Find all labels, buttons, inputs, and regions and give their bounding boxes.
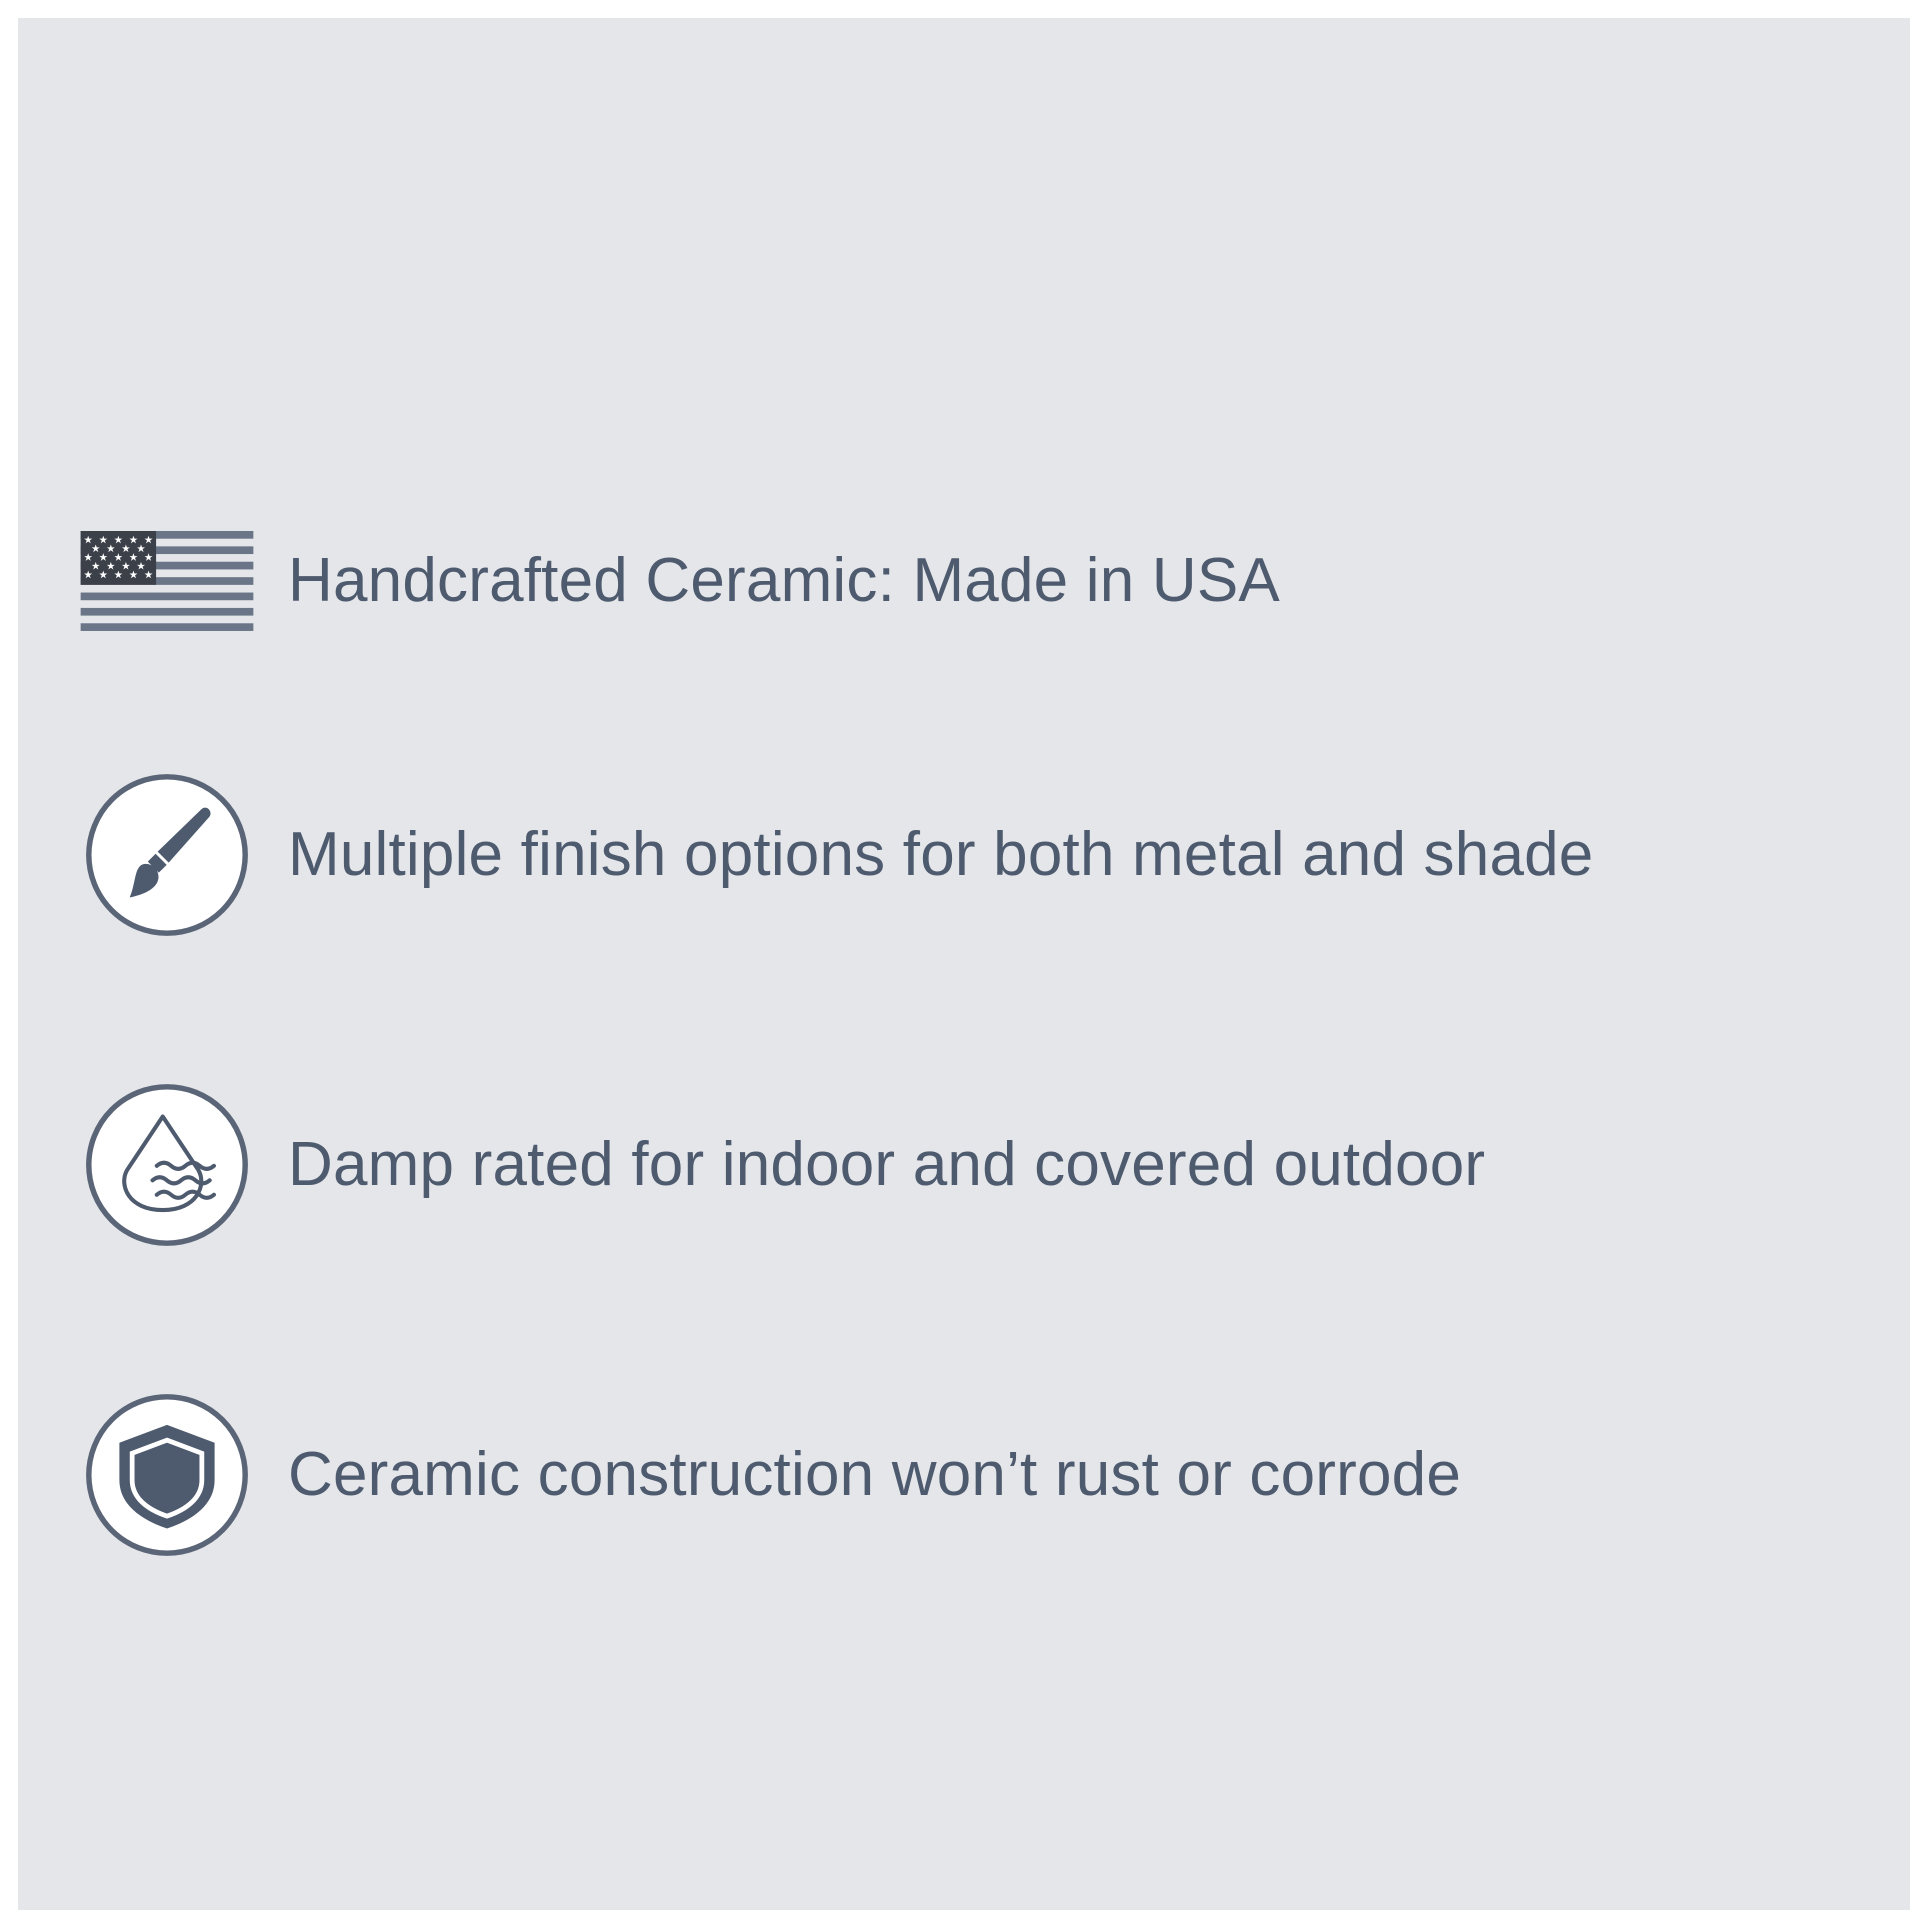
shield-icon bbox=[82, 1390, 252, 1560]
feature-list: Handcrafted Ceramic: Made in USA Multipl… bbox=[18, 18, 1910, 1910]
feature-card: Handcrafted Ceramic: Made in USA Multipl… bbox=[18, 18, 1910, 1910]
feature-label: Damp rated for indoor and covered outdoo… bbox=[262, 1130, 1485, 1199]
paintbrush-icon bbox=[82, 770, 252, 940]
feature-label: Multiple finish options for both metal a… bbox=[262, 820, 1594, 889]
icon-slot bbox=[72, 1070, 262, 1260]
feature-label: Ceramic construction won’t rust or corro… bbox=[262, 1440, 1461, 1509]
feature-item-damp-rated: Damp rated for indoor and covered outdoo… bbox=[72, 1070, 1872, 1260]
icon-slot bbox=[72, 760, 262, 950]
water-drop-icon bbox=[82, 1080, 252, 1250]
icon-slot bbox=[72, 1380, 262, 1570]
feature-item-finish-options: Multiple finish options for both metal a… bbox=[72, 760, 1872, 950]
feature-label: Handcrafted Ceramic: Made in USA bbox=[262, 546, 1280, 615]
icon-slot bbox=[72, 486, 262, 676]
us-flag-icon bbox=[80, 531, 254, 631]
feature-item-no-rust: Ceramic construction won’t rust or corro… bbox=[72, 1380, 1872, 1570]
feature-item-made-in-usa: Handcrafted Ceramic: Made in USA bbox=[72, 486, 1872, 676]
